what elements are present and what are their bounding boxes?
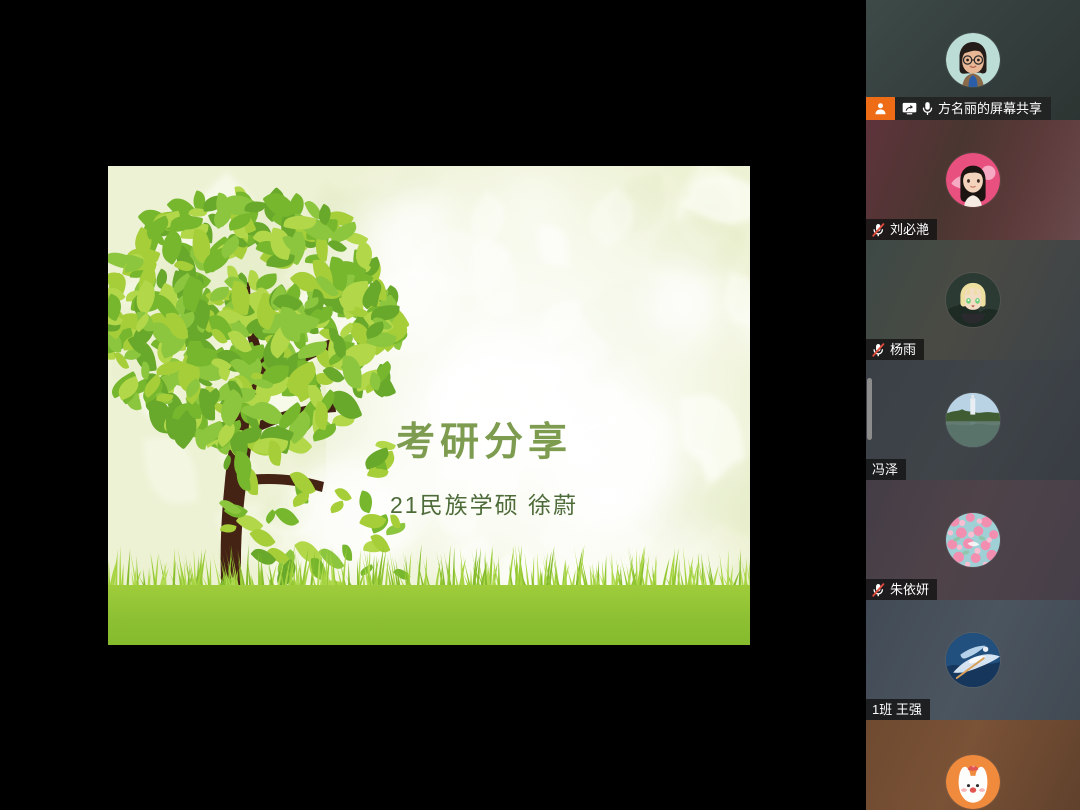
avatar [946,393,1000,447]
participant-name: 杨雨 [890,343,916,357]
participant-name: 1班 王强 [872,703,922,717]
slide-subtitle: 21民族学硕 徐蔚 [108,486,750,520]
participant-list-scrollbar[interactable] [866,0,874,810]
participant-rail[interactable]: 方名丽的屏幕共享 [866,0,1080,810]
river-tower-photo-avatar-icon [946,393,1000,447]
participant-name: 冯泽 [872,463,898,477]
participant-tile[interactable]: 刘必滟 [866,120,1080,240]
participant-name-bar: 1班 王强 [866,699,930,720]
grass-band [108,585,750,645]
screen-share-icon [902,102,917,115]
microphone-icon [922,101,933,116]
participant-tile[interactable]: 杨雨 [866,240,1080,360]
girl-glasses-avatar-icon [946,33,1000,87]
participant-name-bar: 杨雨 [866,339,924,360]
girl-pink-avatar-icon [946,153,1000,207]
presentation-slide[interactable]: 考研分享 21民族学硕 徐蔚 [108,166,750,645]
blonde-chibi-avatar-icon [946,273,1000,327]
participant-tile[interactable]: 方名丽的屏幕共享 [866,0,1080,120]
screen-share-banner: 方名丽的屏幕共享 [866,97,1051,120]
participant-tile[interactable]: 1班 王强 [866,600,1080,720]
participant-name-bar: 朱依妍 [866,579,937,600]
grass-blades [108,543,750,589]
avatar [946,153,1000,207]
participant-tile[interactable]: 冯泽 [866,360,1080,480]
avatar [946,633,1000,687]
screen-share-label: 方名丽的屏幕共享 [938,102,1051,115]
participant-name: 刘必滟 [890,223,929,237]
avatar [946,273,1000,327]
participant-tile[interactable]: 朱依妍 [866,480,1080,600]
shared-screen-stage[interactable]: 考研分享 21民族学硕 徐蔚 [0,0,866,810]
avatar [946,33,1000,87]
avatar [946,513,1000,567]
white-rabbit-avatar-icon [946,755,1000,809]
blue-anime-avatar-icon [946,633,1000,687]
participant-name: 朱依妍 [890,583,929,597]
slide-title: 考研分享 [108,411,750,467]
participant-name-bar: 刘必滟 [866,219,937,240]
scrollbar-thumb[interactable] [867,378,872,440]
pink-floral-avatar-icon [946,513,1000,567]
meeting-window: 考研分享 21民族学硕 徐蔚 [0,0,1080,810]
avatar [946,755,1000,809]
participant-tile[interactable] [866,720,1080,810]
